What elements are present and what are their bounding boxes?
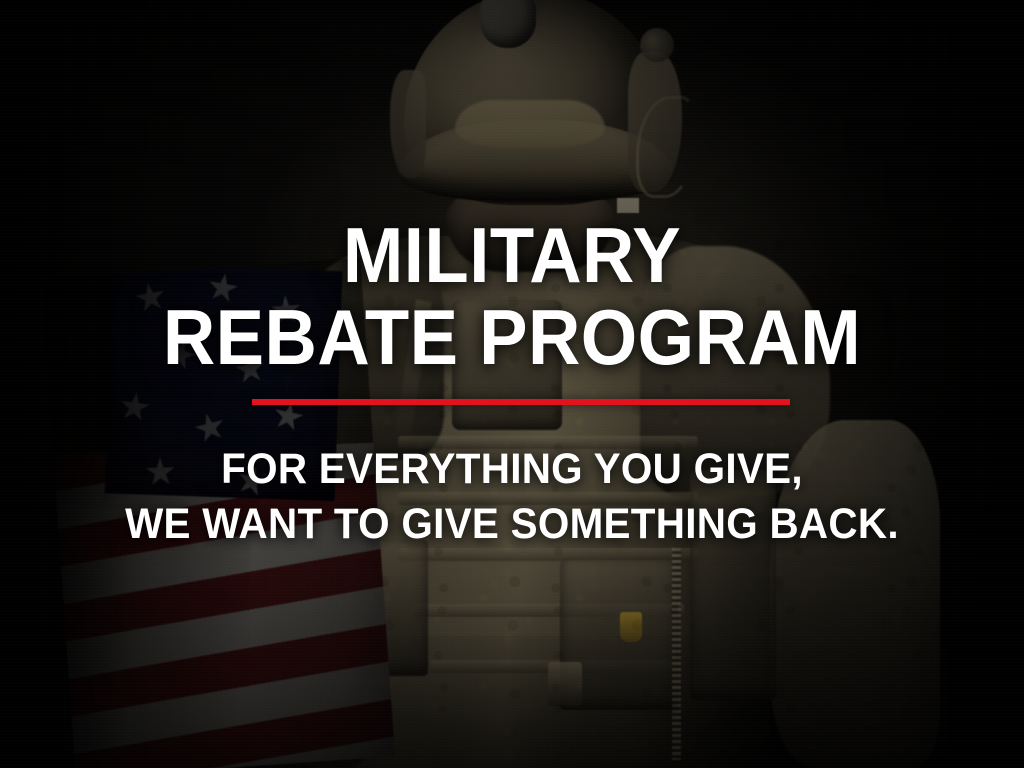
banner-text-overlay: MILITARY REBATE PROGRAM FOR EVERYTHING Y… (0, 0, 1024, 768)
headline-line-1: MILITARY (36, 218, 988, 293)
subheadline-line-2: WE WANT TO GIVE SOMETHING BACK. (31, 503, 994, 546)
subheadline-line-1: FOR EVERYTHING YOU GIVE, (31, 448, 994, 491)
headline-line-2: REBATE PROGRAM (36, 300, 988, 375)
red-divider-rule (252, 399, 790, 405)
military-rebate-banner: MILITARY REBATE PROGRAM FOR EVERYTHING Y… (0, 0, 1024, 768)
